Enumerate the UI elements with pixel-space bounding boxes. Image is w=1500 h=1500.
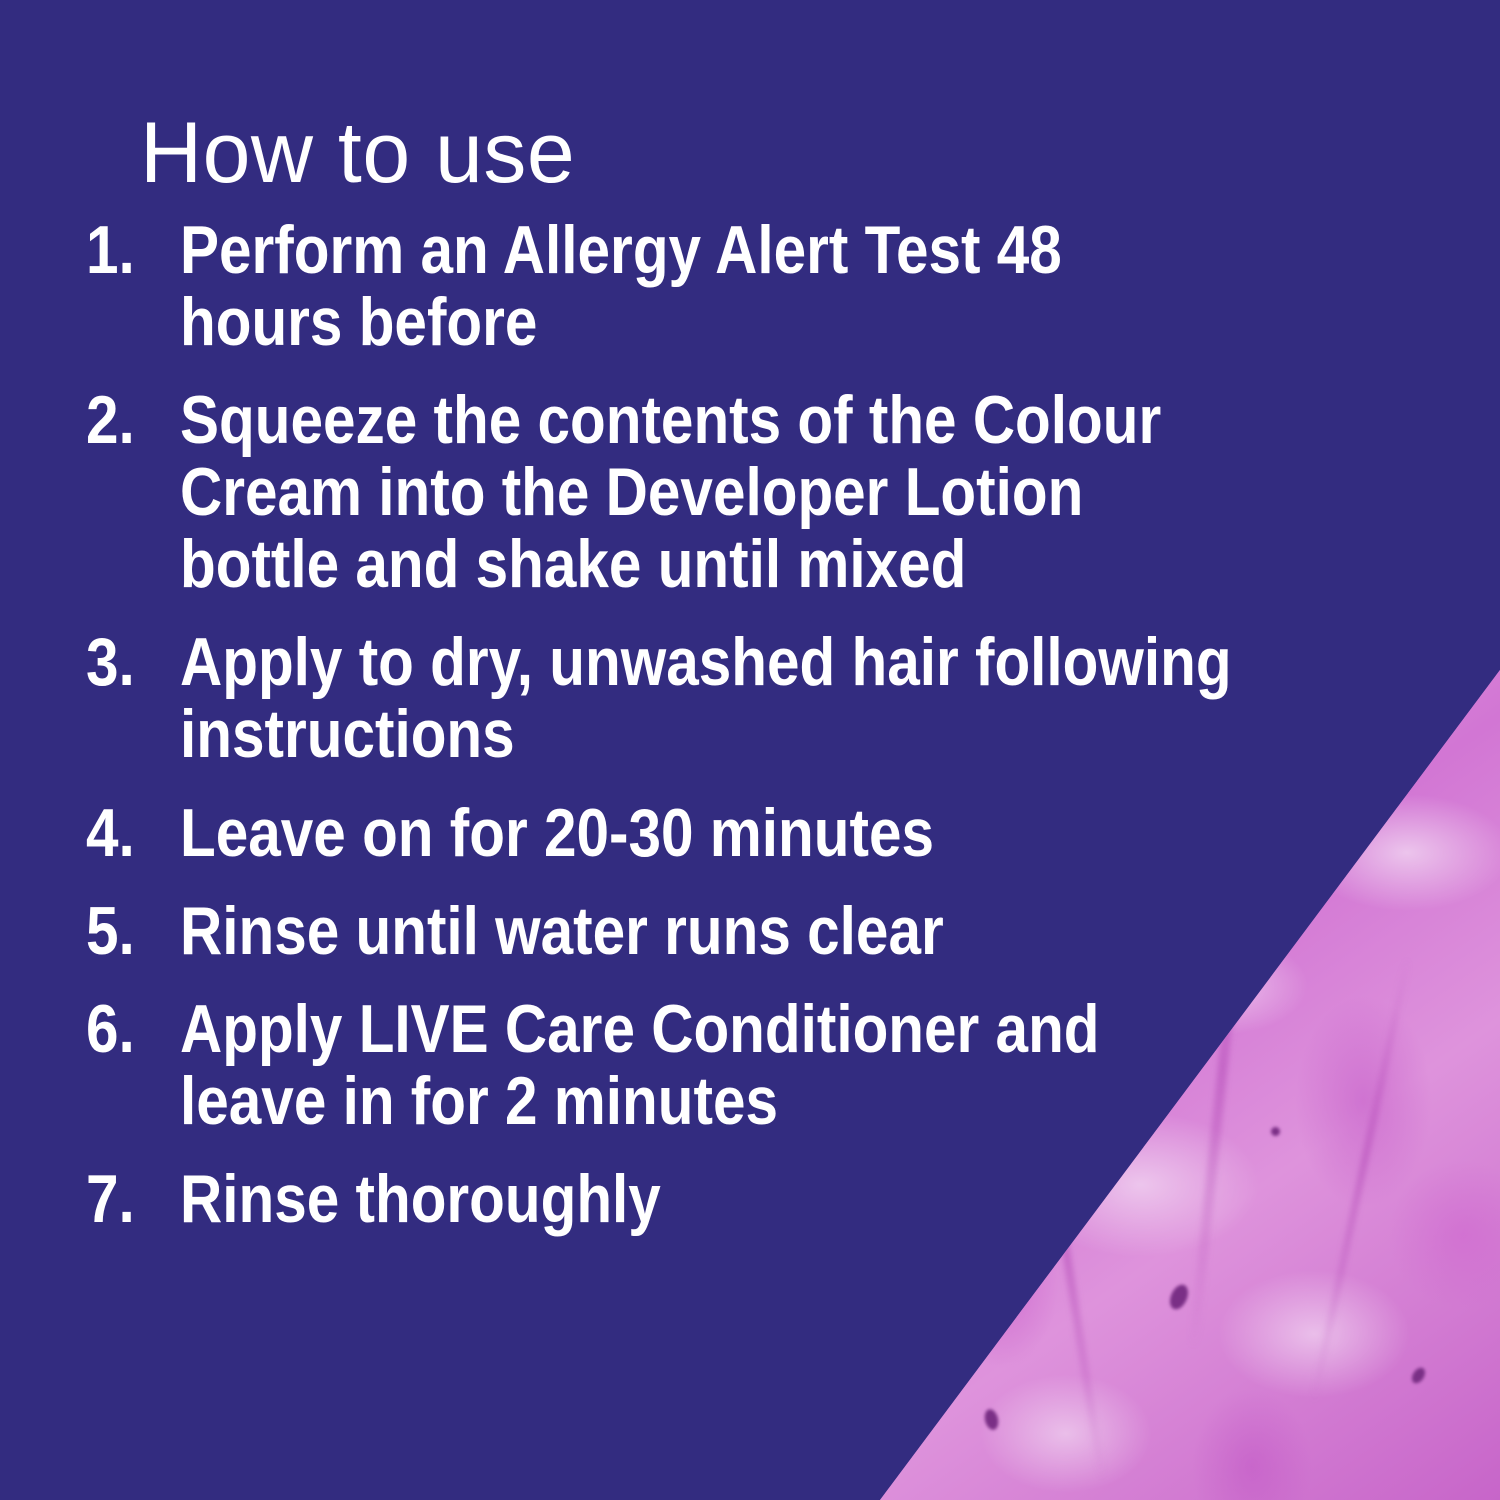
list-item: 7. Rinse thoroughly [86, 1163, 1406, 1235]
list-item: 1. Perform an Allergy Alert Test 48 hour… [86, 214, 1406, 358]
how-to-use-panel: How to use 1. Perform an Allergy Alert T… [0, 0, 1500, 1500]
step-number: 2. [86, 384, 167, 456]
step-text: Squeeze the contents of the Colour Cream… [180, 384, 1234, 600]
page-title: How to use [140, 110, 575, 196]
list-item: 6. Apply LIVE Care Conditioner and leave… [86, 993, 1406, 1137]
list-item: 4. Leave on for 20-30 minutes [86, 797, 1406, 869]
step-text: Rinse until water runs clear [180, 895, 1234, 967]
step-text: Leave on for 20-30 minutes [180, 797, 1234, 869]
step-number: 6. [86, 993, 167, 1065]
step-text: Apply to dry, unwashed hair following in… [180, 626, 1234, 770]
step-text: Perform an Allergy Alert Test 48 hours b… [180, 214, 1234, 358]
step-number: 4. [86, 797, 167, 869]
list-item: 5. Rinse until water runs clear [86, 895, 1406, 967]
step-text: Rinse thoroughly [180, 1163, 1234, 1235]
step-number: 7. [86, 1163, 167, 1235]
step-number: 3. [86, 626, 167, 698]
step-number: 5. [86, 895, 167, 967]
list-item: 3. Apply to dry, unwashed hair following… [86, 626, 1406, 770]
step-text: Apply LIVE Care Conditioner and leave in… [180, 993, 1234, 1137]
list-item: 2. Squeeze the contents of the Colour Cr… [86, 384, 1406, 600]
instruction-steps-list: 1. Perform an Allergy Alert Test 48 hour… [86, 214, 1406, 1261]
step-number: 1. [86, 214, 167, 286]
content-area: How to use 1. Perform an Allergy Alert T… [0, 0, 1500, 1500]
